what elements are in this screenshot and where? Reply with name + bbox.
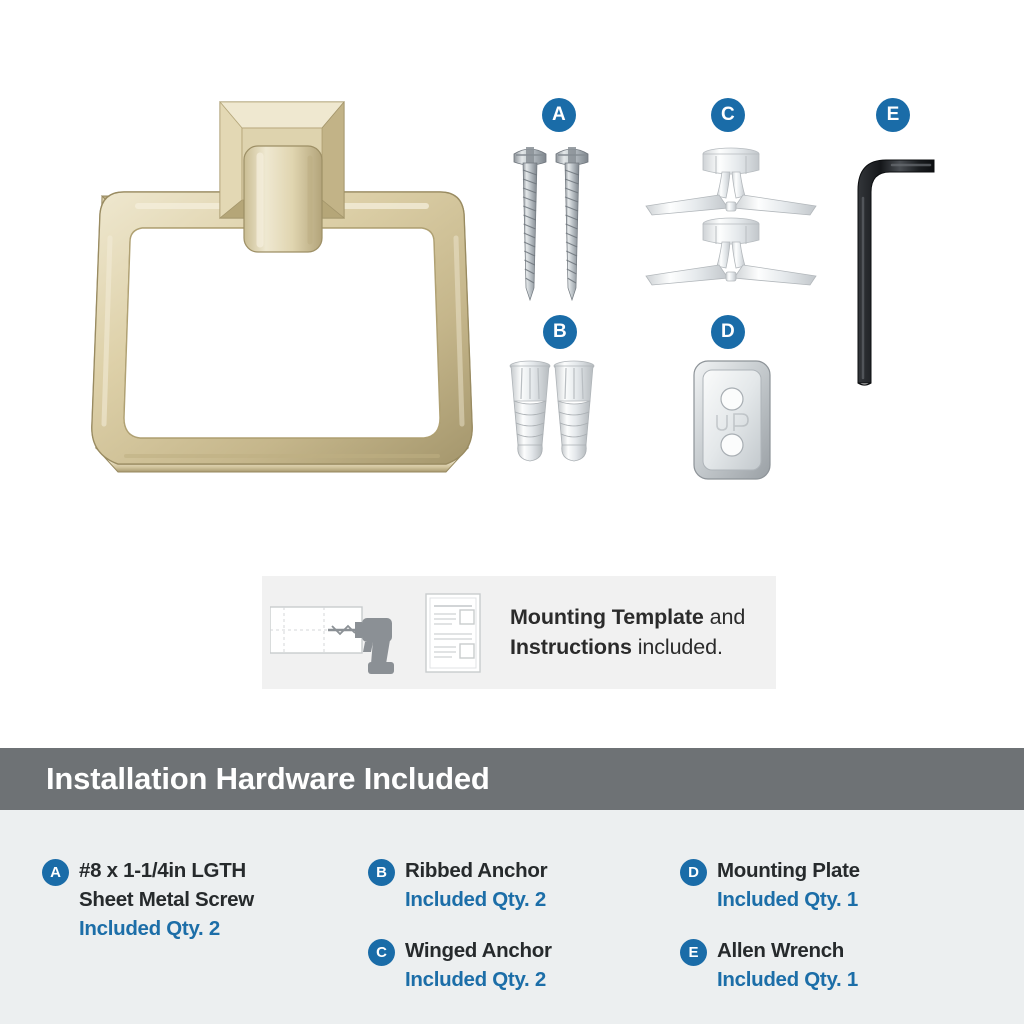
legend-qty-d: Included Qty. 1 — [717, 885, 860, 914]
screw-1 — [514, 147, 546, 300]
legend-badge-c: C — [368, 939, 395, 966]
towel-ring-illustration — [78, 88, 488, 488]
legend-item-b: B Ribbed Anchor Included Qty. 2 — [368, 856, 547, 914]
legend-label-b: Ribbed Anchor — [405, 856, 547, 885]
legend-label-a-line2: Sheet Metal Screw — [79, 885, 254, 914]
template-banner-text: Mounting Template and Instructions inclu… — [510, 603, 745, 662]
template-bold-1: Mounting Template — [510, 605, 704, 629]
part-badge-a: A — [542, 98, 576, 132]
legend-badge-b: B — [368, 859, 395, 886]
legend-text-c: Winged Anchor Included Qty. 2 — [405, 936, 552, 994]
legend-text-e: Allen Wrench Included Qty. 1 — [717, 936, 858, 994]
legend-item-c: C Winged Anchor Included Qty. 2 — [368, 936, 552, 994]
legend-badge-e: E — [680, 939, 707, 966]
legend-text-a: #8 x 1-1/4in LGTH Sheet Metal Screw Incl… — [79, 856, 254, 943]
part-badge-b: B — [543, 315, 577, 349]
legend-item-e: E Allen Wrench Included Qty. 1 — [680, 936, 858, 994]
ribbed-anchor-2 — [554, 361, 594, 461]
legend-badge-a: A — [42, 859, 69, 886]
allen-wrench-illustration — [840, 138, 960, 408]
part-d-mounting-plate: D — [672, 315, 792, 490]
legend-qty-a: Included Qty. 2 — [79, 914, 254, 943]
part-badge-e: E — [876, 98, 910, 132]
part-badge-c: C — [711, 98, 745, 132]
screw-2 — [556, 147, 588, 300]
legend-qty-e: Included Qty. 1 — [717, 965, 858, 994]
legend-label-c: Winged Anchor — [405, 936, 552, 965]
instructions-document-icon — [422, 592, 484, 674]
ribbed-anchors-illustration — [502, 357, 622, 492]
template-bold-2: Instructions — [510, 635, 632, 659]
legend-label-e: Allen Wrench — [717, 936, 858, 965]
ring-post — [244, 146, 322, 252]
legend-qty-b: Included Qty. 2 — [405, 885, 547, 914]
product-hardware-infographic: A — [0, 0, 1024, 1024]
part-c-winged-anchors: C — [636, 98, 826, 293]
template-banner-line1: Mounting Template and — [510, 603, 745, 633]
winged-anchor-1 — [646, 148, 816, 215]
legend-text-d: Mounting Plate Included Qty. 1 — [717, 856, 860, 914]
part-e-allen-wrench: E — [840, 98, 960, 358]
part-a-screws: A — [500, 98, 620, 298]
legend-qty-c: Included Qty. 2 — [405, 965, 552, 994]
footer-title-bar: Installation Hardware Included — [0, 748, 1024, 810]
winged-anchors-illustration — [636, 140, 826, 290]
footer-legend-panel: A #8 x 1-1/4in LGTH Sheet Metal Screw In… — [0, 810, 1024, 1024]
mounting-template-banner: Mounting Template and Instructions inclu… — [262, 576, 776, 689]
product-image-towel-ring — [78, 88, 488, 488]
template-rest-2: included. — [632, 635, 723, 659]
part-b-ribbed-anchors: B — [502, 315, 622, 490]
legend-item-d: D Mounting Plate Included Qty. 1 — [680, 856, 860, 914]
template-icons — [270, 590, 484, 676]
legend-item-a: A #8 x 1-1/4in LGTH Sheet Metal Screw In… — [42, 856, 254, 943]
legend-badge-d: D — [680, 859, 707, 886]
ribbed-anchor-1 — [510, 361, 550, 461]
part-badge-d: D — [711, 315, 745, 349]
legend-text-b: Ribbed Anchor Included Qty. 2 — [405, 856, 547, 914]
legend-label-a-line1: #8 x 1-1/4in LGTH — [79, 856, 254, 885]
template-rest-1: and — [704, 605, 745, 629]
winged-anchor-2 — [646, 218, 816, 285]
screws-illustration — [500, 140, 620, 340]
mounting-plate-illustration — [672, 357, 792, 492]
drill-template-icon — [270, 590, 410, 676]
template-banner-line2: Instructions included. — [510, 633, 745, 663]
footer-title: Installation Hardware Included — [46, 761, 490, 797]
legend-label-d: Mounting Plate — [717, 856, 860, 885]
